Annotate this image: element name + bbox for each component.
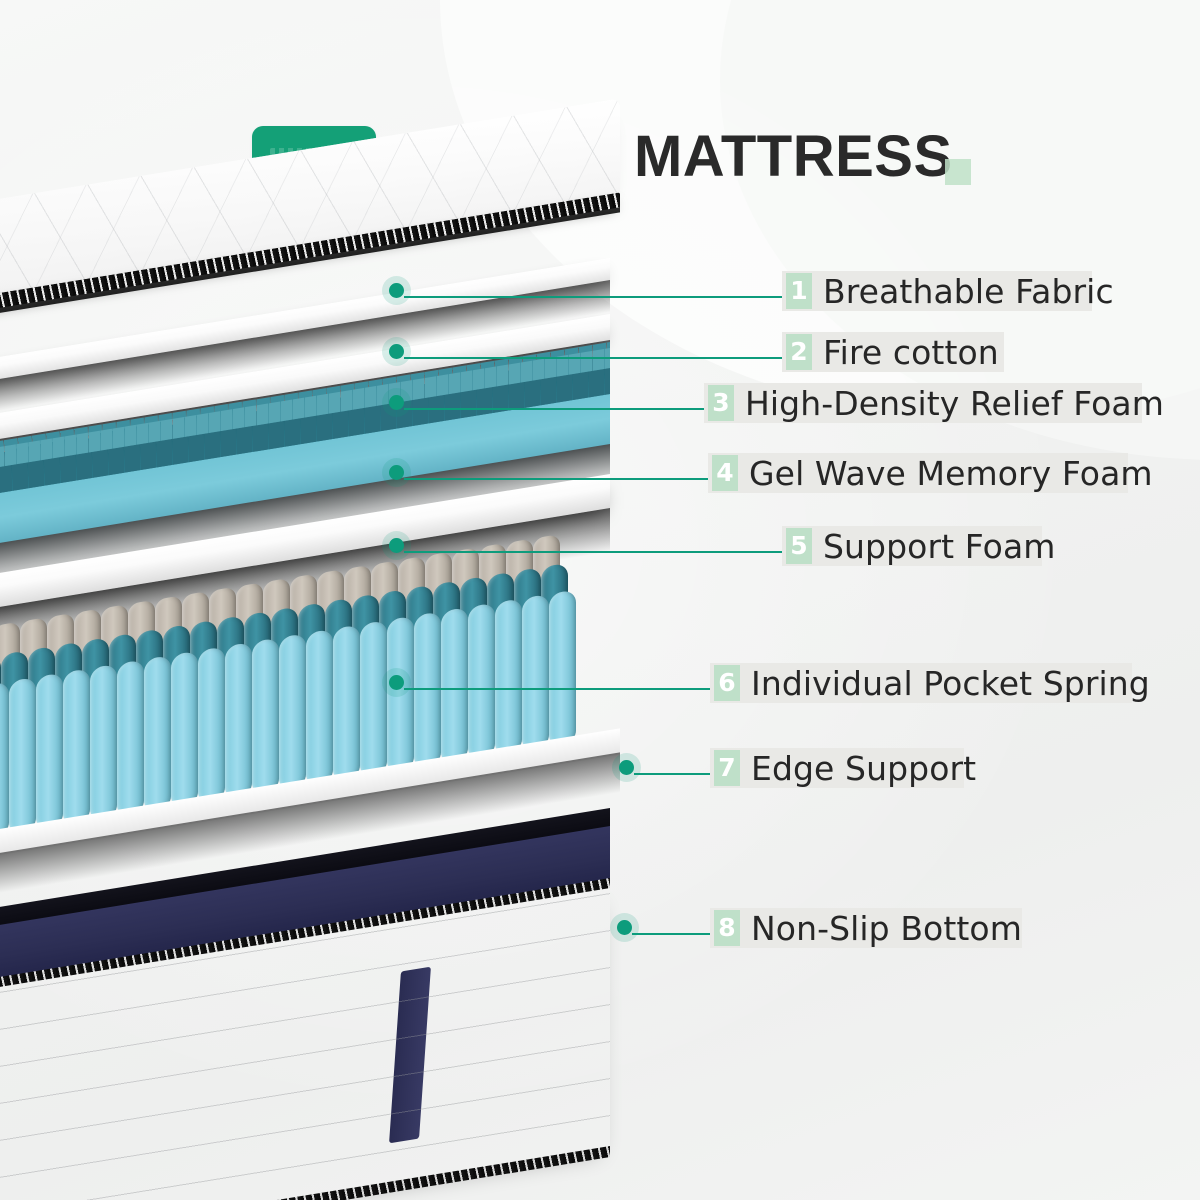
callout-dot-1 [389, 283, 404, 298]
callout-dot-8 [617, 920, 632, 935]
callout-number-7: 7 [714, 750, 740, 786]
leader-line-4 [404, 478, 712, 480]
callout-label-1: 1 Breathable Fabric [786, 269, 1114, 313]
callout-text-5: Support Foam [823, 527, 1056, 566]
leader-line-8 [632, 933, 714, 935]
callout-dot-5 [389, 538, 404, 553]
callout-number-8: 8 [714, 910, 740, 946]
callout-number-4: 4 [712, 455, 738, 491]
callout-text-7: Edge Support [751, 749, 976, 788]
callout-label-2: 2 Fire cotton [786, 330, 999, 374]
callout-text-4: Gel Wave Memory Foam [749, 454, 1153, 493]
callout-number-6: 6 [714, 665, 740, 701]
callout-text-1: Breathable Fabric [823, 272, 1114, 311]
infographic-canvas: HYBRID MATTRESS [0, 0, 1200, 1200]
callout-number-1: 1 [786, 273, 812, 309]
callout-text-6: Individual Pocket Spring [751, 664, 1150, 703]
callout-text-3: High-Density Relief Foam [745, 384, 1164, 423]
callout-label-6: 6 Individual Pocket Spring [714, 661, 1150, 705]
callout-dot-4 [389, 465, 404, 480]
leader-line-1 [404, 296, 792, 298]
callout-list: 1 Breathable Fabric 2 Fire cotton 3 High… [0, 0, 1200, 1200]
callout-label-8: 8 Non-Slip Bottom [714, 906, 1022, 950]
callout-dot-3 [389, 395, 404, 410]
callout-text-2: Fire cotton [823, 333, 999, 372]
callout-dot-7 [619, 760, 634, 775]
callout-number-2: 2 [786, 334, 812, 370]
callout-label-7: 7 Edge Support [714, 746, 976, 790]
callout-label-5: 5 Support Foam [786, 524, 1056, 568]
leader-line-2 [404, 357, 792, 359]
callout-number-3: 3 [708, 385, 734, 421]
leader-line-3 [404, 408, 712, 410]
callout-dot-2 [389, 344, 404, 359]
callout-dot-6 [389, 675, 404, 690]
leader-line-7 [634, 773, 714, 775]
callout-label-3: 3 High-Density Relief Foam [708, 381, 1164, 425]
leader-line-5 [404, 551, 792, 553]
leader-line-6 [404, 688, 714, 690]
callout-text-8: Non-Slip Bottom [751, 909, 1022, 948]
callout-number-5: 5 [786, 528, 812, 564]
callout-label-4: 4 Gel Wave Memory Foam [712, 451, 1153, 495]
